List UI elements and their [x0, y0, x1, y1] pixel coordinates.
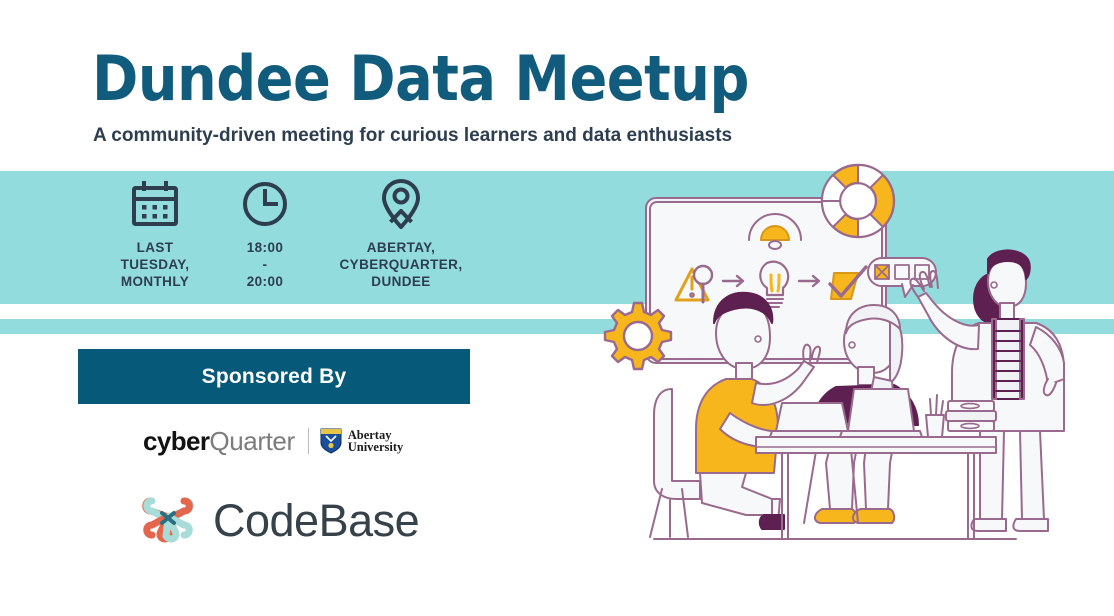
team-meeting-illustration — [596, 163, 1114, 553]
gear-icon — [605, 303, 671, 369]
info-item-time: 18:00 - 20:00 — [214, 178, 316, 290]
abertay-line-2: University — [348, 441, 404, 454]
page-subtitle: A community-driven meeting for curious l… — [93, 124, 732, 148]
page-title: Dundee Data Meetup — [92, 44, 749, 114]
calendar-icon — [130, 178, 180, 230]
cyberquarter-logo: cyber Quarter Abertay University — [143, 424, 403, 458]
person-standing — [910, 250, 1064, 531]
sponsored-by-banner: Sponsored By — [78, 349, 470, 404]
codebase-wordmark: CodeBase — [213, 498, 419, 543]
event-poster: Dundee Data Meetup A community-driven me… — [0, 0, 1114, 616]
codebase-mark-icon — [140, 495, 196, 545]
event-info-row: LAST TUESDAY, MONTHLY 18:00 - 20:00 ABER… — [96, 178, 486, 304]
abertay-crest-icon — [320, 428, 342, 454]
codebase-logo: CodeBase — [140, 492, 419, 548]
life-ring-icon — [822, 165, 894, 237]
cyberquarter-light-text: Quarter — [209, 426, 294, 457]
sponsored-by-label: Sponsored By — [202, 365, 347, 389]
logo-divider — [308, 428, 309, 454]
info-item-label: LAST TUESDAY, MONTHLY — [121, 239, 190, 290]
abertay-university-text: Abertay University — [348, 429, 404, 454]
clock-icon — [241, 178, 289, 230]
info-item-label: 18:00 - 20:00 — [247, 239, 284, 290]
poster-header: Dundee Data Meetup A community-driven me… — [0, 0, 1114, 171]
cyberquarter-bold-text: cyber — [143, 426, 209, 457]
info-item-date: LAST TUESDAY, MONTHLY — [96, 178, 214, 290]
location-pin-icon — [378, 178, 424, 230]
info-item-location: ABERTAY, CYBERQUARTER, DUNDEE — [316, 178, 486, 290]
info-item-label: ABERTAY, CYBERQUARTER, DUNDEE — [340, 239, 463, 290]
